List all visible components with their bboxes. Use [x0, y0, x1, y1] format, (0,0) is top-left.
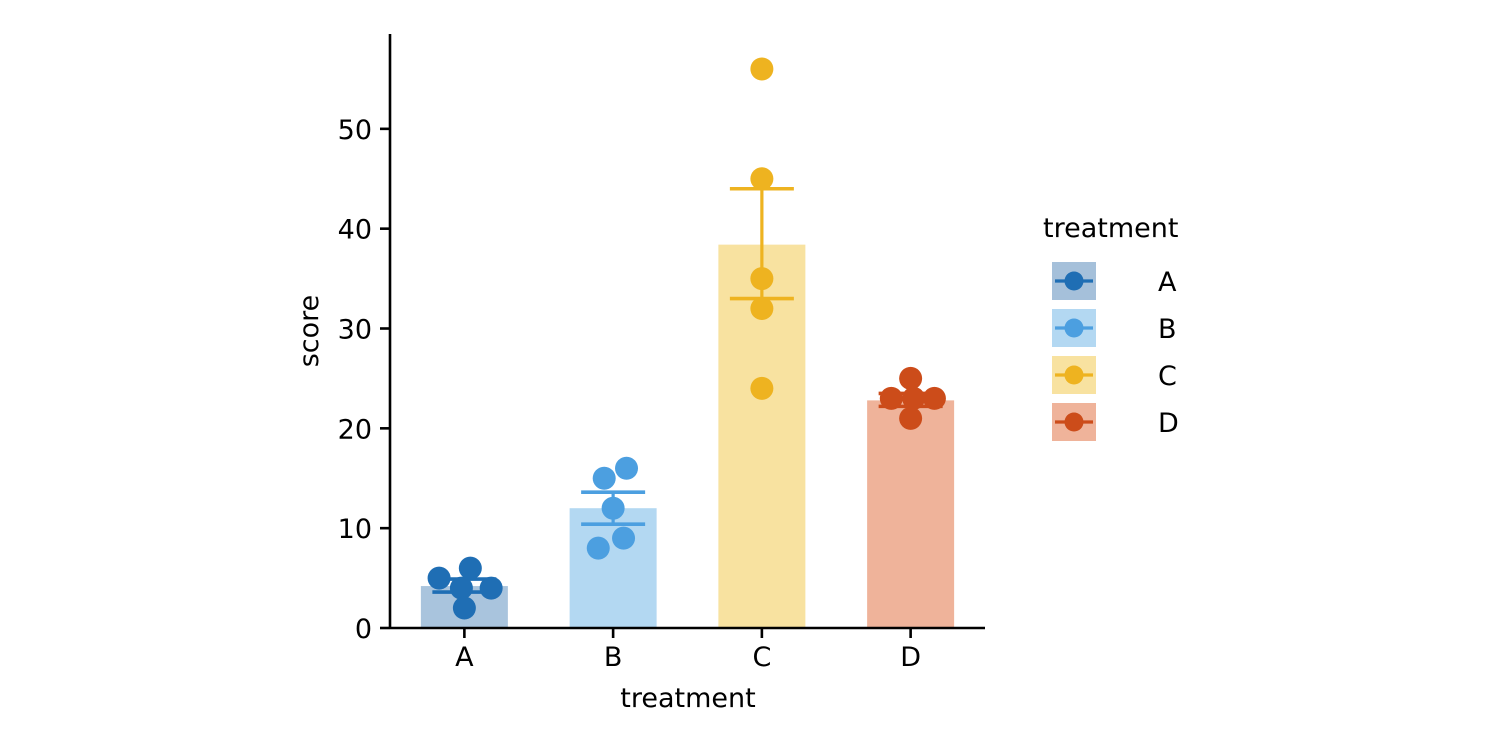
bar-D: [867, 400, 954, 628]
data-point-A-5: [453, 597, 476, 620]
error-bars-layer: [432, 189, 942, 592]
data-point-D-3: [902, 387, 925, 410]
y-tick-label-20: 20: [338, 414, 372, 445]
y-tick-layer: 01020304050: [338, 115, 390, 645]
legend-label-B: B: [1158, 314, 1177, 345]
y-axis-title: score: [294, 295, 325, 368]
legend-label-A: A: [1158, 267, 1177, 298]
y-tick-label-40: 40: [338, 215, 372, 246]
data-point-B-3: [602, 497, 625, 520]
data-point-D-1: [899, 367, 922, 390]
x-tick-label-C: C: [752, 642, 771, 673]
bars-layer: [421, 245, 954, 628]
x-tick-label-A: A: [455, 642, 474, 673]
legend-marker-dot-A: [1065, 272, 1084, 291]
legend: treatment ABCD: [1043, 213, 1179, 441]
legend-marker-dot-D: [1065, 413, 1084, 432]
data-point-D-4: [923, 387, 946, 410]
y-tick-label-50: 50: [338, 115, 372, 146]
legend-entry-D[interactable]: D: [1052, 403, 1179, 441]
legend-label-D: D: [1158, 408, 1179, 439]
data-point-A-3: [450, 577, 473, 600]
x-tick-layer: ABCD: [455, 628, 921, 673]
data-point-A-2: [428, 567, 451, 590]
data-point-D-5: [899, 407, 922, 430]
data-point-C-3: [750, 267, 773, 290]
data-point-B-1: [615, 457, 638, 480]
legend-entry-B[interactable]: B: [1052, 309, 1177, 347]
data-point-C-5: [750, 377, 773, 400]
x-tick-label-B: B: [604, 642, 623, 673]
legend-marker-dot-B: [1065, 319, 1084, 338]
data-point-B-5: [587, 537, 610, 560]
legend-entry-C[interactable]: C: [1052, 356, 1177, 394]
chart-figure: 01020304050 ABCD treatment score treatme…: [0, 0, 1500, 750]
y-tick-label-0: 0: [355, 614, 372, 645]
data-point-B-4: [612, 527, 635, 550]
data-point-A-4: [480, 577, 503, 600]
legend-marker-dot-C: [1065, 366, 1084, 385]
bar-chart-plot: 01020304050 ABCD treatment score treatme…: [0, 0, 1500, 750]
x-tick-label-D: D: [900, 642, 921, 673]
legend-entry-A[interactable]: A: [1052, 262, 1177, 300]
legend-title: treatment: [1043, 213, 1178, 244]
data-point-C-1: [750, 57, 773, 80]
data-point-B-2: [593, 467, 616, 490]
legend-entries: ABCD: [1052, 262, 1179, 441]
data-point-C-2: [750, 167, 773, 190]
y-tick-label-10: 10: [338, 514, 372, 545]
data-point-D-2: [880, 387, 903, 410]
data-point-C-4: [750, 297, 773, 320]
x-axis-title: treatment: [620, 683, 755, 714]
y-tick-label-30: 30: [338, 315, 372, 346]
bar-B: [570, 508, 657, 628]
data-point-A-1: [459, 557, 482, 580]
legend-label-C: C: [1158, 361, 1177, 392]
